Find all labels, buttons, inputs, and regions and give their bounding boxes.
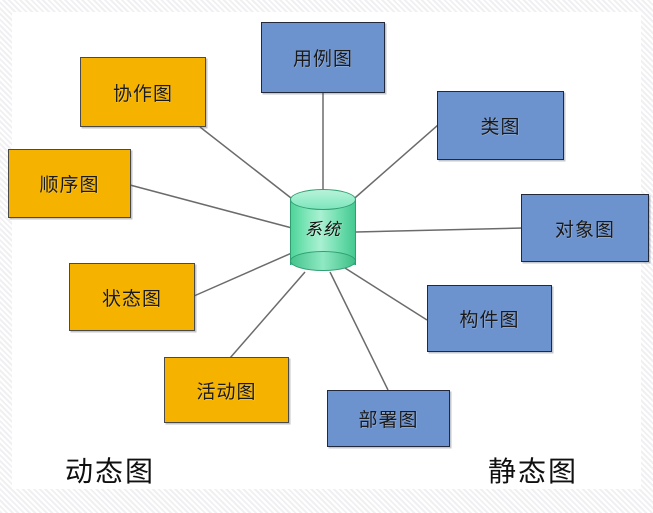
node-label: 协作图 xyxy=(113,79,173,106)
node-label: 对象图 xyxy=(555,215,615,242)
node-activity-diagram[interactable]: 活动图 xyxy=(164,357,289,423)
node-collaboration-diagram[interactable]: 协作图 xyxy=(80,57,206,127)
node-label: 顺序图 xyxy=(39,170,99,197)
cylinder-bottom-ellipse xyxy=(290,251,356,271)
node-label: 部署图 xyxy=(358,405,418,432)
caption-dynamic: 动态图 xyxy=(65,450,155,490)
cylinder-top-ellipse xyxy=(290,189,356,210)
node-state-diagram[interactable]: 状态图 xyxy=(69,263,195,331)
node-label: 类图 xyxy=(480,112,520,139)
node-usecase-diagram[interactable]: 用例图 xyxy=(261,22,385,93)
node-class-diagram[interactable]: 类图 xyxy=(437,91,564,160)
node-sequence-diagram[interactable]: 顺序图 xyxy=(8,149,131,218)
node-label: 构件图 xyxy=(459,305,519,332)
node-object-diagram[interactable]: 对象图 xyxy=(521,194,649,262)
uml-diagram-slide: 协作图 顺序图 状态图 活动图 用例图 类图 对象图 构件图 部署图 系统 动态… xyxy=(0,0,653,513)
caption-static: 静态图 xyxy=(488,450,578,490)
center-system-cylinder[interactable]: 系统 xyxy=(290,189,356,271)
cylinder-label: 系统 xyxy=(290,215,356,240)
node-component-diagram[interactable]: 构件图 xyxy=(427,285,552,352)
node-label: 活动图 xyxy=(196,377,256,404)
node-label: 用例图 xyxy=(293,44,353,71)
node-deployment-diagram[interactable]: 部署图 xyxy=(327,390,450,447)
node-label: 状态图 xyxy=(102,284,162,311)
